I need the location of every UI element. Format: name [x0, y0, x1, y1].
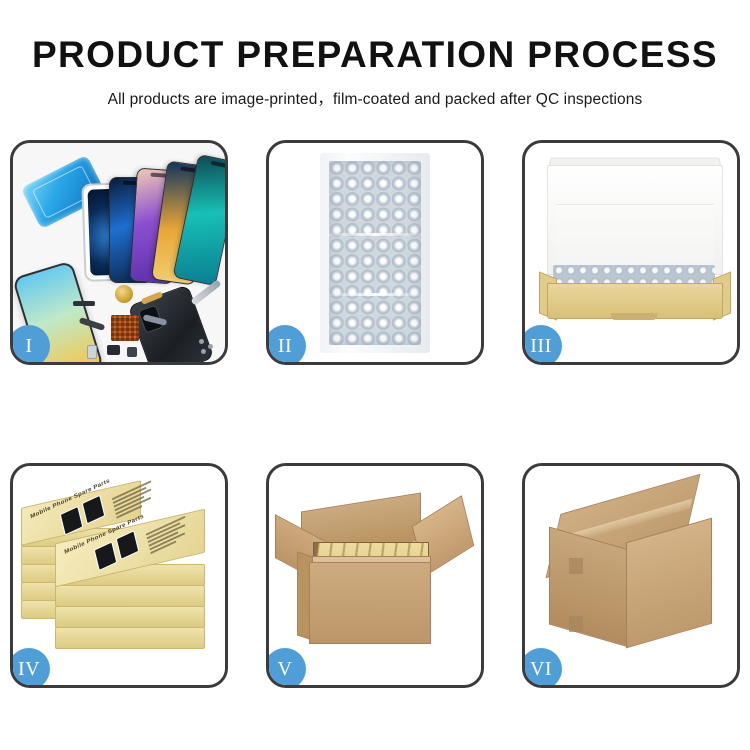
- kraft-box-side: [55, 627, 205, 649]
- process-step-3: III: [522, 140, 740, 365]
- mailer-closure-tab: [611, 313, 657, 320]
- battery-connector-icon: [87, 345, 97, 359]
- box-label-screen-image: [60, 506, 84, 536]
- step-badge-4: IV: [10, 648, 50, 688]
- step-badge-3: III: [522, 325, 562, 365]
- step-badge-2: II: [266, 325, 306, 365]
- kraft-box-side: [55, 585, 205, 607]
- mailer-white-lid: [547, 165, 723, 275]
- box-label-spec-lines: [146, 513, 196, 556]
- page-subtitle: All products are image-printed，film-coat…: [0, 75, 750, 109]
- step-badge-1: I: [10, 325, 50, 365]
- phone-fan-group: [109, 161, 225, 283]
- step-5-illustration: [269, 466, 481, 685]
- box-label-spec-lines: [112, 478, 162, 521]
- page-title: PRODUCT PREPARATION PROCESS: [0, 0, 750, 75]
- step-badge-5: V: [266, 648, 306, 688]
- process-steps-grid: I II III: [10, 140, 740, 688]
- bubble-grid: [329, 161, 421, 345]
- carton-handle-notch: [569, 616, 583, 632]
- kraft-box-stack: Mobile Phone Spare Parts Mobile Phone Sp…: [19, 480, 225, 670]
- header: PRODUCT PREPARATION PROCESS All products…: [0, 0, 750, 109]
- process-step-6: VI: [522, 463, 740, 688]
- product-preparation-infographic: PRODUCT PREPARATION PROCESS All products…: [0, 0, 750, 750]
- spare-parts-group: [71, 283, 191, 362]
- step-6-illustration: [525, 466, 737, 685]
- flex-cable-icon: [79, 317, 106, 331]
- step-1-illustration: [13, 143, 225, 362]
- component-part-icon: [107, 345, 120, 355]
- bubble-wrap-pouch-icon: [320, 153, 430, 353]
- kraft-box-side: [55, 606, 205, 628]
- chip-grid-part-icon: [111, 315, 139, 341]
- flex-cable-icon: [143, 314, 168, 326]
- flex-cable-icon: [141, 291, 164, 305]
- process-step-1: I: [10, 140, 228, 365]
- pouch-seam: [329, 293, 421, 296]
- pouch-seam: [329, 233, 421, 236]
- step-badge-6: VI: [522, 648, 562, 688]
- step-4-illustration: Mobile Phone Spare Parts Mobile Phone Sp…: [13, 466, 225, 685]
- component-part-icon: [127, 347, 137, 357]
- box-label-screen-image: [82, 495, 106, 525]
- coil-part-icon: [115, 285, 133, 303]
- process-step-5: V: [266, 463, 484, 688]
- step-2-illustration: [269, 143, 481, 362]
- step-3-illustration: [525, 143, 737, 362]
- process-step-2: II: [266, 140, 484, 365]
- carton-front-panel: [309, 562, 431, 644]
- process-step-4: Mobile Phone Spare Parts Mobile Phone Sp…: [10, 463, 228, 688]
- carton-handle-notch: [569, 558, 583, 574]
- screws-icon: [199, 339, 221, 355]
- box-label-screen-image: [94, 541, 118, 571]
- box-label-screen-image: [116, 530, 140, 560]
- speaker-part-icon: [73, 301, 95, 306]
- notch-icon: [211, 161, 225, 168]
